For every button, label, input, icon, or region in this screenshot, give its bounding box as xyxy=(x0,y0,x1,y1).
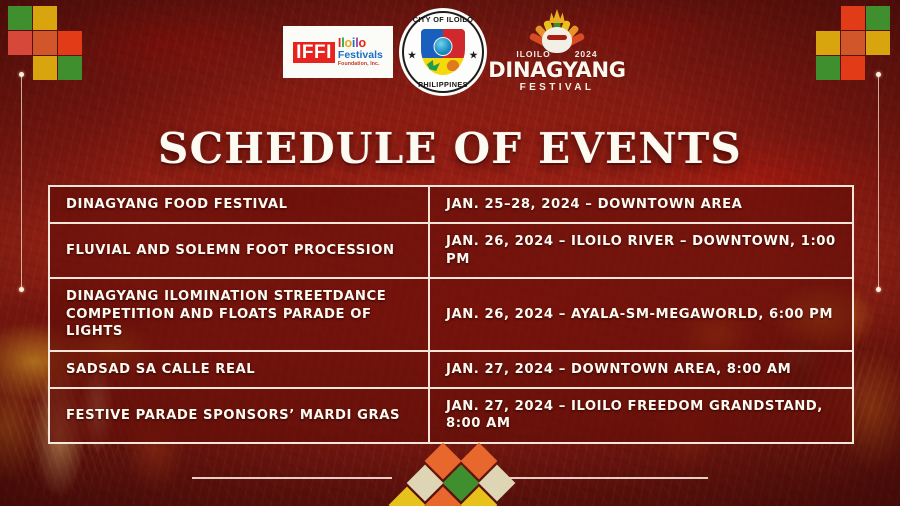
event-name-cell: DINAGYANG ILOMINATION STREETDANCECOMPETI… xyxy=(50,279,430,349)
table-row: DINAGYANG ILOMINATION STREETDANCECOMPETI… xyxy=(50,279,852,351)
page-title: SCHEDULE OF EVENTS xyxy=(0,124,900,173)
iffi-logo-iloilo: Iloilo xyxy=(338,37,383,50)
diamond-ornament-cluster xyxy=(0,440,900,506)
shield-lion-icon xyxy=(447,60,459,71)
event-detail-cell: JAN. 25–28, 2024 – DOWNTOWN AREA xyxy=(430,187,852,222)
dinagyang-headdress-icon xyxy=(505,11,609,53)
shield-bird-icon xyxy=(427,60,440,71)
event-name-line-1: SADSAD SA CALLE REAL xyxy=(66,361,255,378)
accent-dot-left-bottom xyxy=(19,287,24,292)
event-name-line-2: COMPETITION AND FLOATS PARADE OF LIGHTS xyxy=(66,306,412,341)
schedule-table: DINAGYANG FOOD FESTIVALJAN. 25–28, 2024 … xyxy=(48,185,854,444)
seal-star-right-icon: ★ xyxy=(470,50,478,61)
table-row: FESTIVE PARADE SPONSORS’ MARDI GRASJAN. … xyxy=(50,389,852,442)
city-of-iloilo-seal: CITY OF ILOILO PHILIPPINES ★ ★ xyxy=(399,8,487,96)
iffi-logo-foundation: Foundation, Inc. xyxy=(338,62,383,67)
event-name-line-1: DINAGYANG FOOD FESTIVAL xyxy=(66,196,288,213)
event-name-cell: FLUVIAL AND SOLEMN FOOT PROCESSION xyxy=(50,224,430,277)
dinagyang-mask-icon xyxy=(542,27,572,53)
iffi-logo-festivals: Festivals xyxy=(338,50,383,61)
event-name-cell: FESTIVE PARADE SPONSORS’ MARDI GRAS xyxy=(50,389,430,442)
iffi-logo-wordmark: Iloilo Festivals Foundation, Inc. xyxy=(338,37,383,68)
dinagyang-schedule-poster: IFFI Iloilo Festivals Foundation, Inc. C… xyxy=(0,0,900,506)
dinagyang-wordmark: DINAGYANG xyxy=(488,60,625,80)
accent-line-right xyxy=(878,75,879,290)
seal-star-left-icon: ★ xyxy=(408,50,416,61)
shield-globe-icon xyxy=(434,37,453,56)
seal-top-text: CITY OF ILOILO xyxy=(399,15,487,24)
seal-shield-icon xyxy=(421,29,465,75)
accent-dot-right-bottom xyxy=(876,287,881,292)
table-row: FLUVIAL AND SOLEMN FOOT PROCESSIONJAN. 2… xyxy=(50,224,852,279)
dinagyang-festival-label: FESTIVAL xyxy=(520,82,595,93)
event-name-line-1: DINAGYANG ILOMINATION STREETDANCE xyxy=(66,288,386,305)
table-row: SADSAD SA CALLE REALJAN. 27, 2024 – DOWN… xyxy=(50,352,852,389)
event-detail-cell: JAN. 26, 2024 – ILOILO RIVER – DOWNTOWN,… xyxy=(430,224,852,277)
event-detail-cell: JAN. 26, 2024 – AYALA-SM-MEGAWORLD, 6:00… xyxy=(430,279,852,349)
event-name-line-1: FLUVIAL AND SOLEMN FOOT PROCESSION xyxy=(66,242,395,259)
iffi-logo: IFFI Iloilo Festivals Foundation, Inc. xyxy=(283,26,393,78)
event-detail-cell: JAN. 27, 2024 – DOWNTOWN AREA, 8:00 AM xyxy=(430,352,852,387)
logo-row: IFFI Iloilo Festivals Foundation, Inc. C… xyxy=(0,8,900,96)
iffi-logo-mark: IFFI xyxy=(293,42,335,63)
event-name-line-1: FESTIVE PARADE SPONSORS’ MARDI GRAS xyxy=(66,407,400,424)
dinagyang-festival-logo: ILOILO 2024 DINAGYANG FESTIVAL xyxy=(497,11,617,93)
event-name-cell: DINAGYANG FOOD FESTIVAL xyxy=(50,187,430,222)
table-row: DINAGYANG FOOD FESTIVALJAN. 25–28, 2024 … xyxy=(50,187,852,224)
event-detail-cell: JAN. 27, 2024 – ILOILO FREEDOM GRANDSTAN… xyxy=(430,389,852,442)
event-name-cell: SADSAD SA CALLE REAL xyxy=(50,352,430,387)
accent-line-left xyxy=(21,75,22,290)
dinagyang-crown-icon xyxy=(549,9,565,23)
seal-bottom-text: PHILIPPINES xyxy=(399,80,487,89)
